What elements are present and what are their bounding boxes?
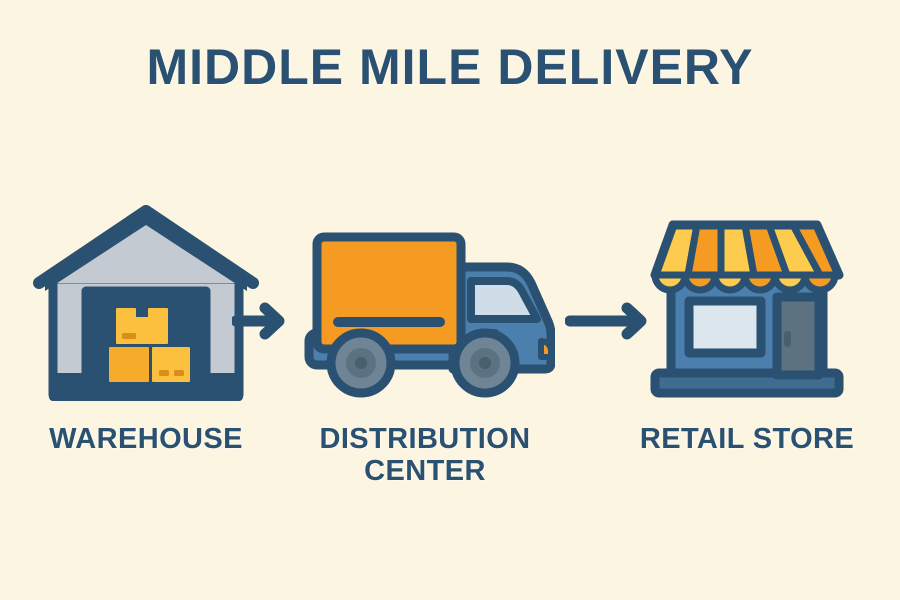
arrow-right-icon bbox=[232, 300, 288, 342]
retail-store-art bbox=[617, 205, 877, 405]
infographic-canvas: MIDDLE MILE DELIVERY bbox=[0, 0, 900, 600]
stage-label-line: WAREHOUSE bbox=[16, 423, 276, 455]
flow-stage-distribution-center: DISTRIBUTION CENTER bbox=[295, 205, 555, 505]
warehouse-icon bbox=[31, 205, 261, 405]
stage-label-retail-store: RETAIL STORE bbox=[617, 423, 877, 455]
flow-stage-warehouse: WAREHOUSE bbox=[16, 205, 276, 505]
delivery-truck-icon bbox=[295, 205, 555, 405]
stage-label-line: RETAIL STORE bbox=[617, 423, 877, 455]
stage-label-warehouse: WAREHOUSE bbox=[16, 423, 276, 455]
flow-connector-1 bbox=[232, 300, 288, 347]
stage-label-line: DISTRIBUTION bbox=[295, 423, 555, 455]
stage-label-line: CENTER bbox=[295, 455, 555, 487]
flow-stage-retail-store: RETAIL STORE bbox=[617, 205, 877, 505]
stage-label-distribution-center: DISTRIBUTION CENTER bbox=[295, 423, 555, 488]
retail-store-icon bbox=[637, 205, 857, 405]
delivery-truck-art bbox=[295, 205, 555, 405]
page-title: MIDDLE MILE DELIVERY bbox=[0, 38, 900, 96]
